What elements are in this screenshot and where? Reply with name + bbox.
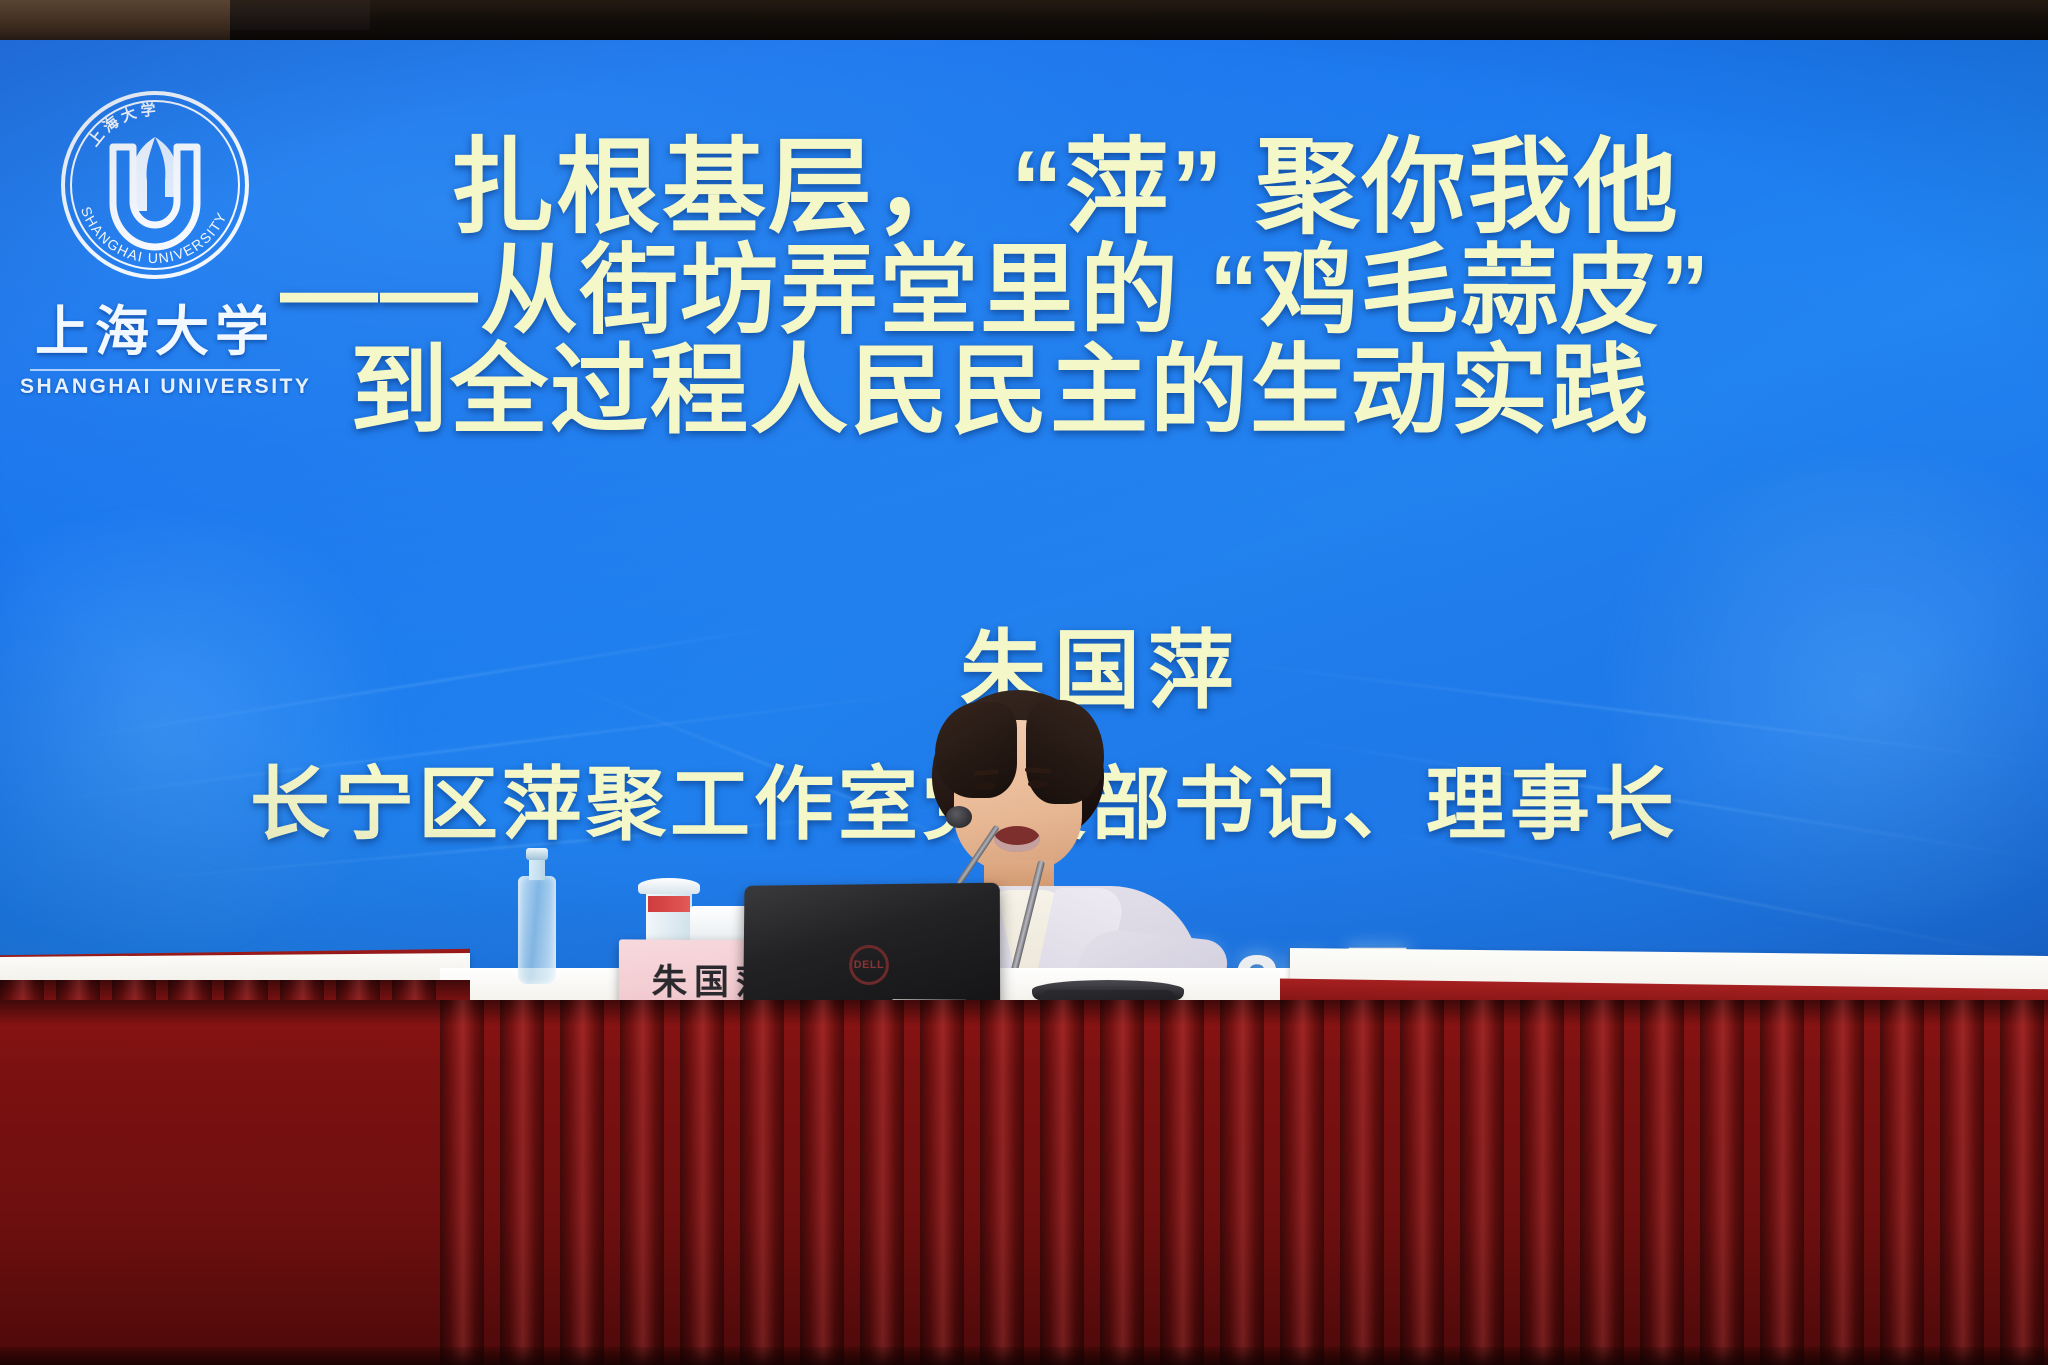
speaker-mouth — [994, 826, 1040, 852]
ceiling-beam-right — [230, 0, 370, 30]
paper-cup — [646, 886, 692, 946]
speaker-eye-right — [1028, 780, 1048, 788]
paper-cup-band — [648, 896, 690, 912]
floor-shadow — [0, 1347, 2048, 1365]
slide-title-block: 扎根基层， “萍” 聚你我他 ——从街坊弄堂里的 “鸡毛蒜皮” 到全过程人民民主… — [330, 135, 2048, 441]
screen-glow — [0, 520, 440, 940]
speaker-eye-left — [976, 782, 996, 790]
microphone-head — [946, 806, 972, 828]
shanghai-university-emblem-icon: 上 海 大 学 SHANGHAI UNIVERSITY — [55, 85, 255, 285]
university-name-en: SHANGHAI UNIVERSITY — [20, 375, 290, 399]
speaker-hair-right — [1026, 700, 1104, 804]
slide-title-line-1: 扎根基层， “萍” 聚你我他 — [450, 135, 2048, 241]
paper-cup-lid — [638, 878, 700, 894]
table-skirt-main — [0, 1000, 2048, 1365]
logo-divider — [30, 369, 280, 371]
university-name-cn: 上海大学 — [20, 287, 290, 366]
water-bottle — [518, 876, 556, 984]
slide-title-line-2: ——从街坊弄堂里的 “鸡毛蒜皮” — [280, 241, 2048, 341]
university-logo-block: 上 海 大 学 SHANGHAI UNIVERSITY 上海大学 SHANGHA… — [20, 85, 290, 399]
slide-title-line-3: 到全过程人民民主的生动实践 — [350, 341, 2048, 441]
lecture-scene: 上 海 大 学 SHANGHAI UNIVERSITY 上海大学 SHANGHA… — [0, 0, 2048, 1365]
dell-logo-icon: DELL — [849, 945, 889, 985]
water-bottle-cap — [526, 848, 548, 860]
